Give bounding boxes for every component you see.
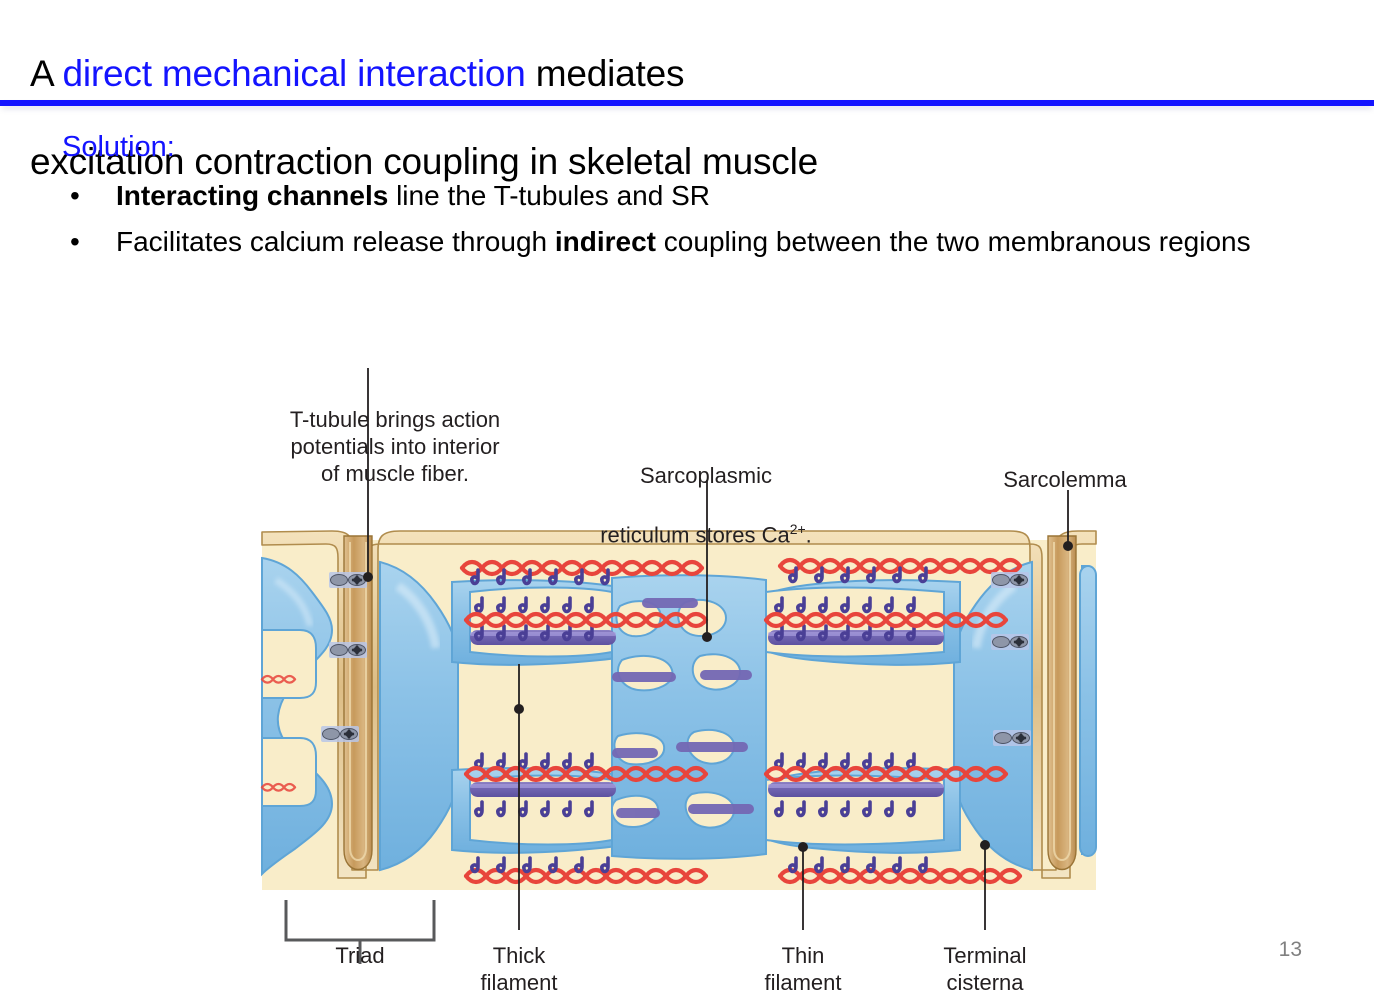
label-thick-filament: Thick filament [449,942,589,996]
triad-illustration [0,330,1374,1004]
list-item: • Facilitates calcium release through in… [62,220,1302,264]
body-content: Solution: • Interacting channels line th… [62,128,1302,266]
label-t-tubule: T-tubule brings action potentials into i… [250,406,540,487]
bullet-marker: • [70,220,80,264]
channel-pair [993,730,1031,746]
title-prefix: A [30,53,63,94]
bullet-1-bold: Interacting channels [116,180,388,211]
label-thin-filament: Thin filament [733,942,873,996]
channel-pair [329,572,367,588]
page-number: 13 [1279,938,1302,962]
label-sr-superscript: 2+ [790,521,806,537]
label-sarcoplasmic-reticulum: Sarcoplasmic reticulum stores Ca2+. [556,435,856,548]
bullet-2-post: coupling between the two membranous regi… [656,226,1251,257]
bullet-1-rest: line the T-tubules and SR [388,180,710,211]
label-sr-line-1: Sarcoplasmic [640,463,772,488]
channel-pair [991,634,1029,650]
label-terminal-cisterna: Terminal cisterna [915,942,1055,996]
channel-pair [329,642,367,658]
label-sr-line-2-post: . [806,522,812,547]
bullet-2-bold: indirect [555,226,656,257]
channel-pair [991,572,1029,588]
title-divider [0,100,1374,106]
bullet-2-pre: Facilitates calcium release through [116,226,555,257]
channel-pair [321,726,359,742]
muscle-triad-diagram: T-tubule brings action potentials into i… [0,330,1374,1004]
slide-title-block: A direct mechanical interaction mediates… [0,0,1374,100]
list-item: • Interacting channels line the T-tubule… [62,174,1302,218]
label-triad: Triad [290,942,430,969]
label-sarcolemma: Sarcolemma [935,466,1195,493]
label-sr-line-2-pre: reticulum stores Ca [600,522,790,547]
title-suffix: mediates [526,53,685,94]
bullet-marker: • [70,174,80,218]
sr-right-edge-cisterna [1080,566,1096,856]
title-highlight: direct mechanical interaction [63,53,526,94]
solution-heading: Solution: [62,128,1302,166]
